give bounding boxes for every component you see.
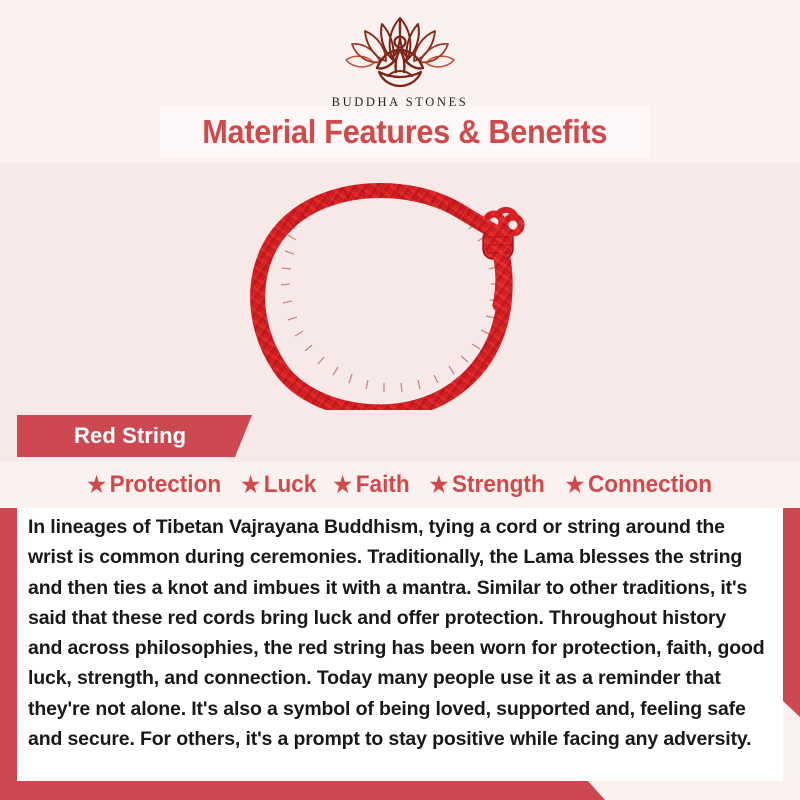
material-label: Red String bbox=[74, 423, 186, 449]
red-braided-string-bracelet bbox=[0, 163, 800, 416]
benefit-item-faith: ★ Faith bbox=[334, 471, 410, 499]
benefit-item-protection: ★ Protection bbox=[88, 471, 222, 499]
description-text: In lineages of Tibetan Vajrayana Buddhis… bbox=[28, 512, 765, 754]
product-image-area bbox=[0, 163, 800, 416]
page-title: Material Features & Benefits bbox=[203, 113, 608, 151]
star-icon: ★ bbox=[88, 474, 107, 496]
header: BUDDHA STONES Material Features & Benefi… bbox=[0, 0, 800, 163]
benefit-label: Connection bbox=[588, 471, 712, 499]
description-panel: In lineages of Tibetan Vajrayana Buddhis… bbox=[17, 508, 783, 781]
star-icon: ★ bbox=[566, 474, 585, 496]
material-label-band: Red String bbox=[17, 415, 252, 457]
benefit-item-connection: ★ Connection bbox=[566, 471, 712, 499]
poster-canvas: BUDDHA STONES Material Features & Benefi… bbox=[0, 0, 800, 800]
benefit-label: Luck bbox=[263, 471, 316, 499]
brand-logo: BUDDHA STONES bbox=[0, 14, 800, 110]
bottom-accent-bar bbox=[0, 781, 800, 800]
benefits-row: ★ Protection ★ Luck ★ Faith ★ Strength ★… bbox=[0, 462, 800, 508]
benefit-label: Protection bbox=[110, 471, 222, 499]
star-icon: ★ bbox=[429, 474, 448, 496]
star-icon: ★ bbox=[241, 474, 260, 496]
benefit-label: Faith bbox=[356, 471, 410, 499]
benefit-item-strength: ★ Strength bbox=[429, 471, 544, 499]
star-icon: ★ bbox=[334, 474, 353, 496]
benefit-label: Strength bbox=[452, 471, 545, 499]
benefit-item-luck: ★ Luck bbox=[241, 471, 316, 499]
lotus-meditation-figure-icon bbox=[341, 14, 459, 93]
title-plate: Material Features & Benefits bbox=[160, 106, 650, 158]
label-band-row: Red String bbox=[0, 410, 800, 462]
